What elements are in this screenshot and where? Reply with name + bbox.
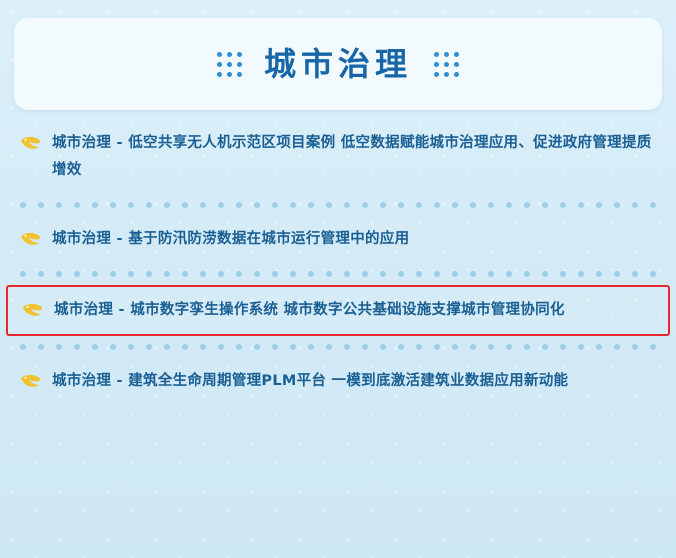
separator — [0, 263, 676, 285]
list-item-text: 城市治理 - 低空共享无人机示范区项目案例 低空数据赋能城市治理应用、促进政府管… — [52, 130, 654, 184]
bird-icon — [20, 298, 46, 324]
separator — [0, 336, 676, 358]
list-item-text: 城市治理 - 基于防汛防涝数据在城市运行管理中的应用 — [52, 226, 409, 253]
list-item[interactable]: 城市治理 - 基于防汛防涝数据在城市运行管理中的应用 — [0, 216, 676, 263]
list-item-text: 城市治理 - 城市数字孪生操作系统 城市数字公共基础设施支撑城市管理协同化 — [54, 297, 565, 324]
item-list: 城市治理 - 低空共享无人机示范区项目案例 低空数据赋能城市治理应用、促进政府管… — [0, 120, 676, 405]
page-title-card: 城市治理 — [14, 18, 662, 110]
list-item-text: 城市治理 - 建筑全生命周期管理PLM平台 一模到底激活建筑业数据应用新动能 — [52, 368, 568, 395]
list-item[interactable]: 城市治理 - 建筑全生命周期管理PLM平台 一模到底激活建筑业数据应用新动能 — [0, 358, 676, 405]
bird-icon — [18, 131, 44, 157]
page-background: 城市治理 城市治理 - 低空共享无人机示范区项目案例 低空数据赋能城市治理应用、… — [0, 0, 676, 558]
bird-icon — [18, 227, 44, 253]
bird-icon — [18, 369, 44, 395]
dot-grid-icon-left — [217, 52, 242, 77]
list-item[interactable]: 城市治理 - 低空共享无人机示范区项目案例 低空数据赋能城市治理应用、促进政府管… — [0, 120, 676, 194]
dot-grid-icon-right — [434, 52, 459, 77]
list-item-highlighted[interactable]: 城市治理 - 城市数字孪生操作系统 城市数字公共基础设施支撑城市管理协同化 — [6, 285, 670, 336]
separator — [0, 194, 676, 216]
page-title: 城市治理 — [264, 48, 412, 80]
